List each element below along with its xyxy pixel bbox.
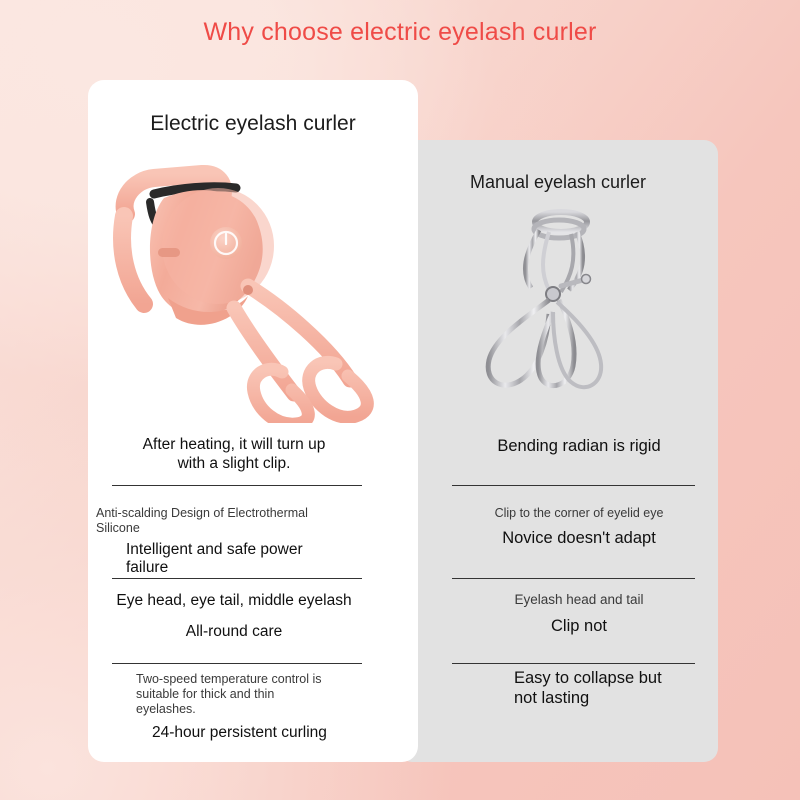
row-4-left-subtext: Two-speed temperature control is suitabl… [136, 672, 376, 716]
row-3-right-text: Clip not [452, 616, 706, 636]
row-2-right-text: Novice doesn't adapt [452, 528, 706, 548]
row-3-right-subtext: Eyelash head and tail [452, 592, 706, 608]
row-4-left-text: 24-hour persistent curling [136, 724, 376, 743]
row-2-right-cell: Clip to the corner of eyelid eye Novice … [452, 506, 706, 548]
row-3-divider-right [452, 663, 695, 664]
row-3-left-cell: Eye head, eye tail, middle eyelash All-r… [96, 592, 372, 642]
comparison-infographic: Why choose electric eyelash curler Manua… [0, 0, 800, 800]
row-3-right-cell: Eyelash head and tail Clip not [452, 592, 706, 636]
electric-eyelash-curler-photo [98, 158, 408, 423]
row-3-left-text: All-round care [96, 623, 372, 642]
row-1-right-cell: Bending radian is rigid [452, 436, 706, 456]
row-2-divider-left [112, 578, 362, 579]
electric-curler-card-title: Electric eyelash curler [88, 112, 418, 136]
row-1-right-text: Bending radian is rigid [452, 436, 706, 456]
page-title: Why choose electric eyelash curler [0, 18, 800, 47]
row-4-right-cell: Easy to collapse but not lasting [452, 672, 706, 708]
row-2-left-text: Intelligent and safe power failure [96, 541, 372, 579]
manual-curler-card-title: Manual eyelash curler [398, 172, 718, 193]
row-1-divider-left [112, 485, 362, 486]
comparison-rows: After heating, it will turn up with a sl… [0, 420, 800, 760]
row-1-left-text: After heating, it will turn up with a sl… [100, 436, 368, 474]
manual-eyelash-curler-photo [453, 202, 663, 422]
row-3-left-subtext: Eye head, eye tail, middle eyelash [96, 592, 372, 611]
row-2-divider-right [452, 578, 695, 579]
row-3-divider-left [112, 663, 362, 664]
row-1-divider-right [452, 485, 695, 486]
row-2-left-cell: Anti-scalding Design of Electrothermal S… [96, 506, 372, 578]
row-2-right-subtext: Clip to the corner of eyelid eye [452, 506, 706, 521]
row-4-left-cell: Two-speed temperature control is suitabl… [136, 672, 376, 743]
row-2-left-subtext: Anti-scalding Design of Electrothermal S… [96, 506, 372, 536]
row-1-left-cell: After heating, it will turn up with a sl… [100, 436, 368, 474]
row-4-right-text: Easy to collapse but not lasting [514, 668, 706, 708]
